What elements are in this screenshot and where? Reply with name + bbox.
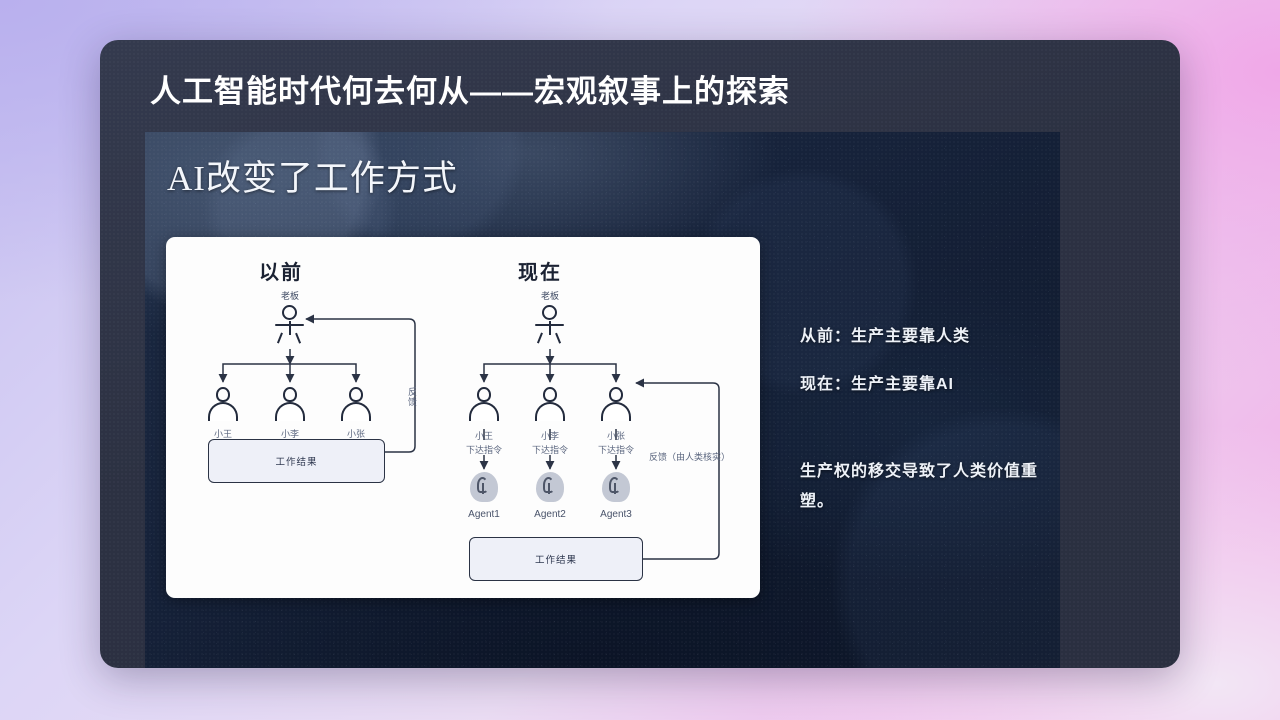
diagram-connectors (166, 237, 760, 598)
before-column-title: 以前 (259, 256, 303, 285)
agent-icon-3 (602, 472, 632, 503)
agent-label-1: Agent1 (468, 509, 500, 520)
now-worker-icon-2 (535, 387, 565, 421)
workflow-diagram-panel: 以前 老板 小王 小李 小张 工作结果 反馈 现在 老板 (166, 237, 760, 598)
slide-stage: 人工智能时代何去何从——宏观叙事上的探索 AI改变了工作方式 (0, 0, 1280, 720)
before-feedback-label: 反馈 (406, 387, 419, 407)
agent-icon-2 (536, 472, 566, 503)
agent-label-3: Agent3 (600, 509, 632, 520)
now-boss-icon (533, 305, 567, 345)
side-text-before: 从前：生产主要靠人类 (800, 322, 970, 346)
now-worker-label-1: 小王 (475, 429, 493, 442)
before-worker-icon-3 (341, 387, 371, 421)
before-result-box: 工作结果 (208, 439, 385, 483)
now-worker-icon-1 (469, 387, 499, 421)
agent-label-2: Agent2 (534, 509, 566, 520)
now-worker-label-2: 小李 (541, 429, 559, 442)
presentation-card: 人工智能时代何去何从——宏观叙事上的探索 AI改变了工作方式 (100, 40, 1180, 668)
now-worker-icon-3 (601, 387, 631, 421)
agent-icon-1 (470, 472, 500, 503)
now-command-label-2: 下达指令 (532, 443, 568, 456)
now-command-label-3: 下达指令 (598, 443, 634, 456)
before-boss-icon (273, 305, 307, 345)
slide-canvas: AI改变了工作方式 (145, 132, 1060, 668)
before-worker-icon-2 (275, 387, 305, 421)
slide-heading: AI改变了工作方式 (167, 150, 458, 201)
now-command-label-1: 下达指令 (466, 443, 502, 456)
now-column-title: 现在 (518, 256, 562, 285)
side-text-now: 现在：生产主要靠AI (800, 370, 954, 394)
before-boss-label: 老板 (281, 289, 299, 302)
before-worker-icon-1 (208, 387, 238, 421)
now-result-box: 工作结果 (469, 537, 643, 581)
side-text-conclusion: 生产权的移交导致了人类价值重塑。 (800, 457, 1040, 517)
now-feedback-label: 反馈（由人类核实） (649, 450, 730, 463)
page-title: 人工智能时代何去何从——宏观叙事上的探索 (150, 66, 790, 111)
now-boss-label: 老板 (541, 289, 559, 302)
now-worker-label-3: 小张 (607, 429, 625, 442)
